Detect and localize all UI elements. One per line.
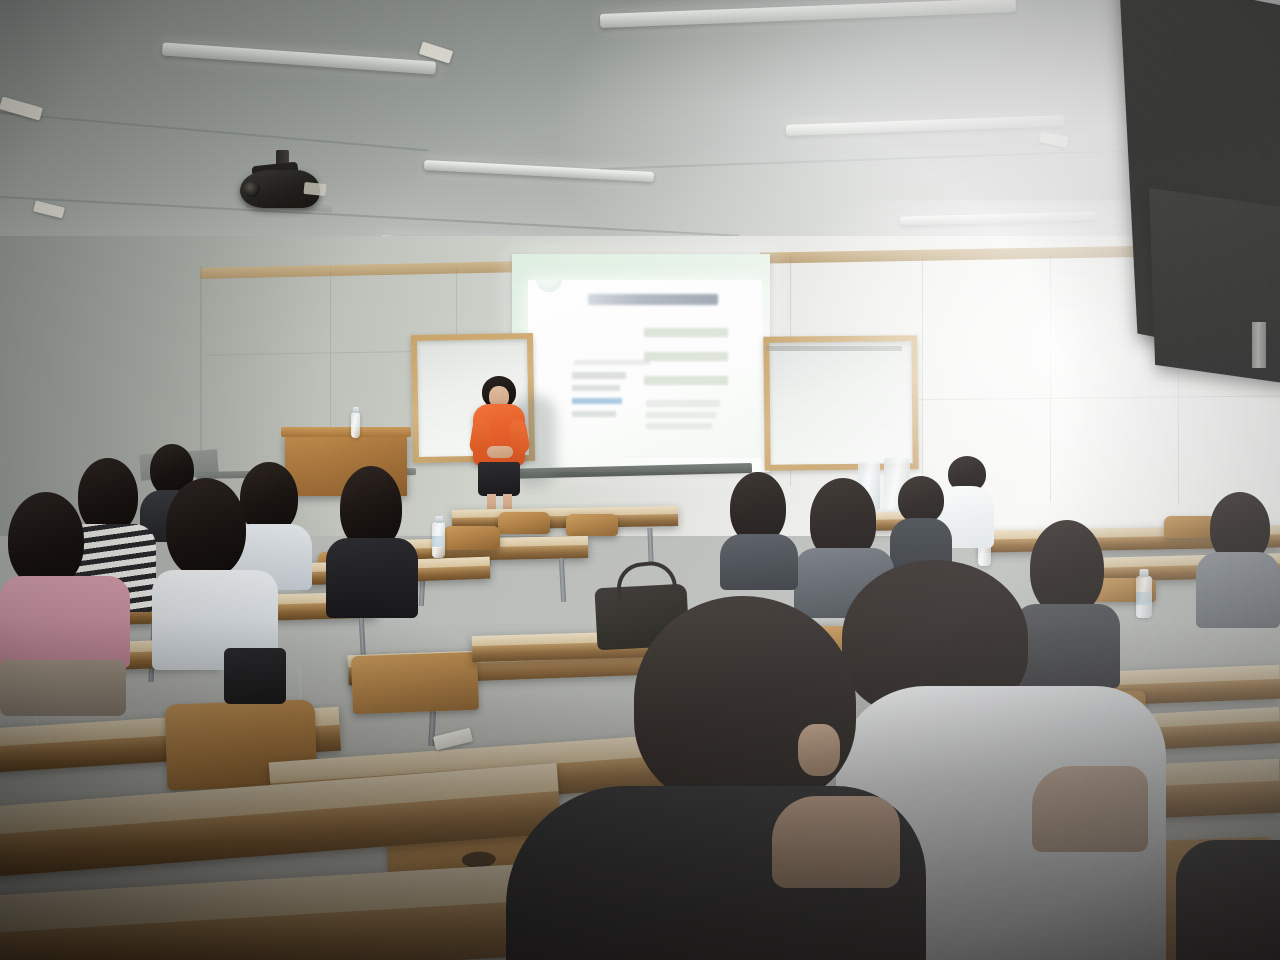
- head: [634, 596, 856, 808]
- slide-row: [646, 412, 716, 418]
- hand: [772, 796, 900, 888]
- ceiling: [0, 0, 1280, 262]
- lower-body: [0, 660, 126, 716]
- monitor-mount-pole: [1252, 322, 1266, 368]
- bottle-cap: [353, 407, 359, 413]
- slide-row: [646, 400, 720, 407]
- bottle-cap: [435, 516, 443, 523]
- slide-row: [574, 360, 650, 365]
- person-midright-grey: [890, 476, 952, 572]
- chair[interactable]: [498, 512, 550, 534]
- wall-seam: [1050, 252, 1051, 502]
- slide-row: [644, 328, 728, 337]
- torso: [326, 538, 418, 618]
- slide-row: [644, 352, 728, 361]
- person-foreground-black-hoodie: [506, 596, 926, 960]
- wall-seam: [200, 266, 202, 466]
- whiteboard-right: [763, 335, 918, 471]
- projector: [238, 150, 322, 208]
- slide-row-highlight: [572, 398, 622, 404]
- person-left-darktop: [326, 466, 418, 612]
- chair[interactable]: [444, 526, 500, 550]
- slide-row: [646, 423, 712, 429]
- chair[interactable]: [351, 652, 479, 714]
- presentation-slide: [528, 280, 762, 458]
- slide-row: [572, 385, 620, 391]
- slide-logo-icon: [536, 280, 562, 292]
- person-left-whiteblouse: [152, 478, 278, 692]
- backpack-strap: [614, 559, 677, 599]
- head: [166, 478, 246, 578]
- torso: [1196, 552, 1280, 628]
- torso: [0, 576, 130, 668]
- bottle-label: [432, 536, 445, 547]
- classroom-photo: [0, 0, 1280, 960]
- whiteboard-surface: [769, 341, 912, 464]
- lower-body: [224, 648, 286, 704]
- presenter-hands: [487, 446, 513, 458]
- slide-row: [572, 411, 616, 417]
- slide-row: [572, 372, 626, 379]
- ear: [798, 724, 840, 776]
- person-foreground-right-edge: [1176, 840, 1280, 960]
- lectern-top: [281, 427, 411, 437]
- water-bottle[interactable]: [432, 522, 445, 558]
- torso: [1176, 840, 1280, 960]
- person-midright-dark-hair: [720, 472, 798, 584]
- marker-pen[interactable]: [433, 728, 473, 751]
- projector-lens: [243, 181, 260, 197]
- person-right-edge: [1196, 492, 1280, 622]
- presenter: [470, 376, 530, 522]
- whiteboard-rail: [766, 346, 902, 351]
- slide-title-text: [588, 294, 718, 305]
- slide-row: [644, 376, 728, 385]
- projector-bracket: [303, 182, 326, 196]
- chair[interactable]: [566, 514, 618, 536]
- person-left-pink: [0, 492, 130, 704]
- arm: [1032, 766, 1148, 852]
- head: [898, 476, 944, 524]
- presenter-black-skirt: [478, 462, 520, 496]
- water-bottle[interactable]: [351, 412, 360, 438]
- wall-seam: [922, 254, 923, 494]
- head: [8, 492, 84, 588]
- torso: [720, 534, 798, 590]
